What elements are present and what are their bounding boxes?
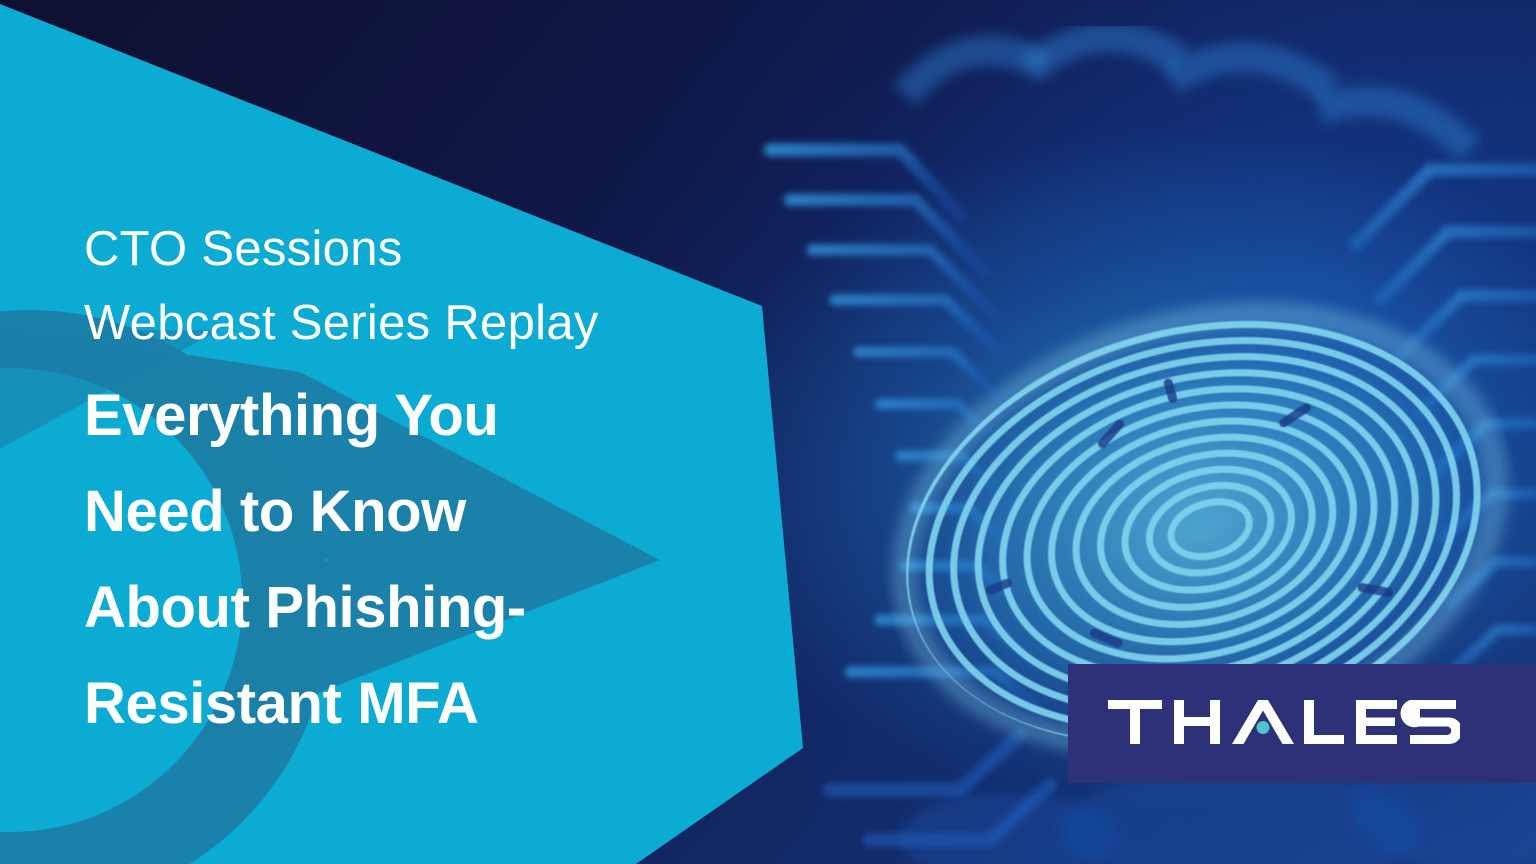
- headline-line-4: Resistant MFA: [84, 656, 744, 752]
- copy-block: CTO Sessions Webcast Series Replay Every…: [84, 212, 744, 752]
- thales-logo: THALES: [1068, 664, 1536, 783]
- promo-banner: CTO Sessions Webcast Series Replay Every…: [0, 0, 1536, 864]
- thales-dot-icon: [1257, 721, 1270, 734]
- eyebrow-line-2: Webcast Series Replay: [84, 286, 744, 360]
- eyebrow-line-1: CTO Sessions: [84, 212, 744, 286]
- headline-line-3: About Phishing-: [84, 560, 744, 656]
- page-title: Everything You Need to Know About Phishi…: [84, 368, 744, 752]
- thales-logo-wordmark-text: THALES: [1068, 664, 1069, 665]
- thales-wordmark-icon: [1108, 700, 1460, 744]
- headline-line-2: Need to Know: [84, 464, 744, 560]
- headline-line-1: Everything You: [84, 368, 744, 464]
